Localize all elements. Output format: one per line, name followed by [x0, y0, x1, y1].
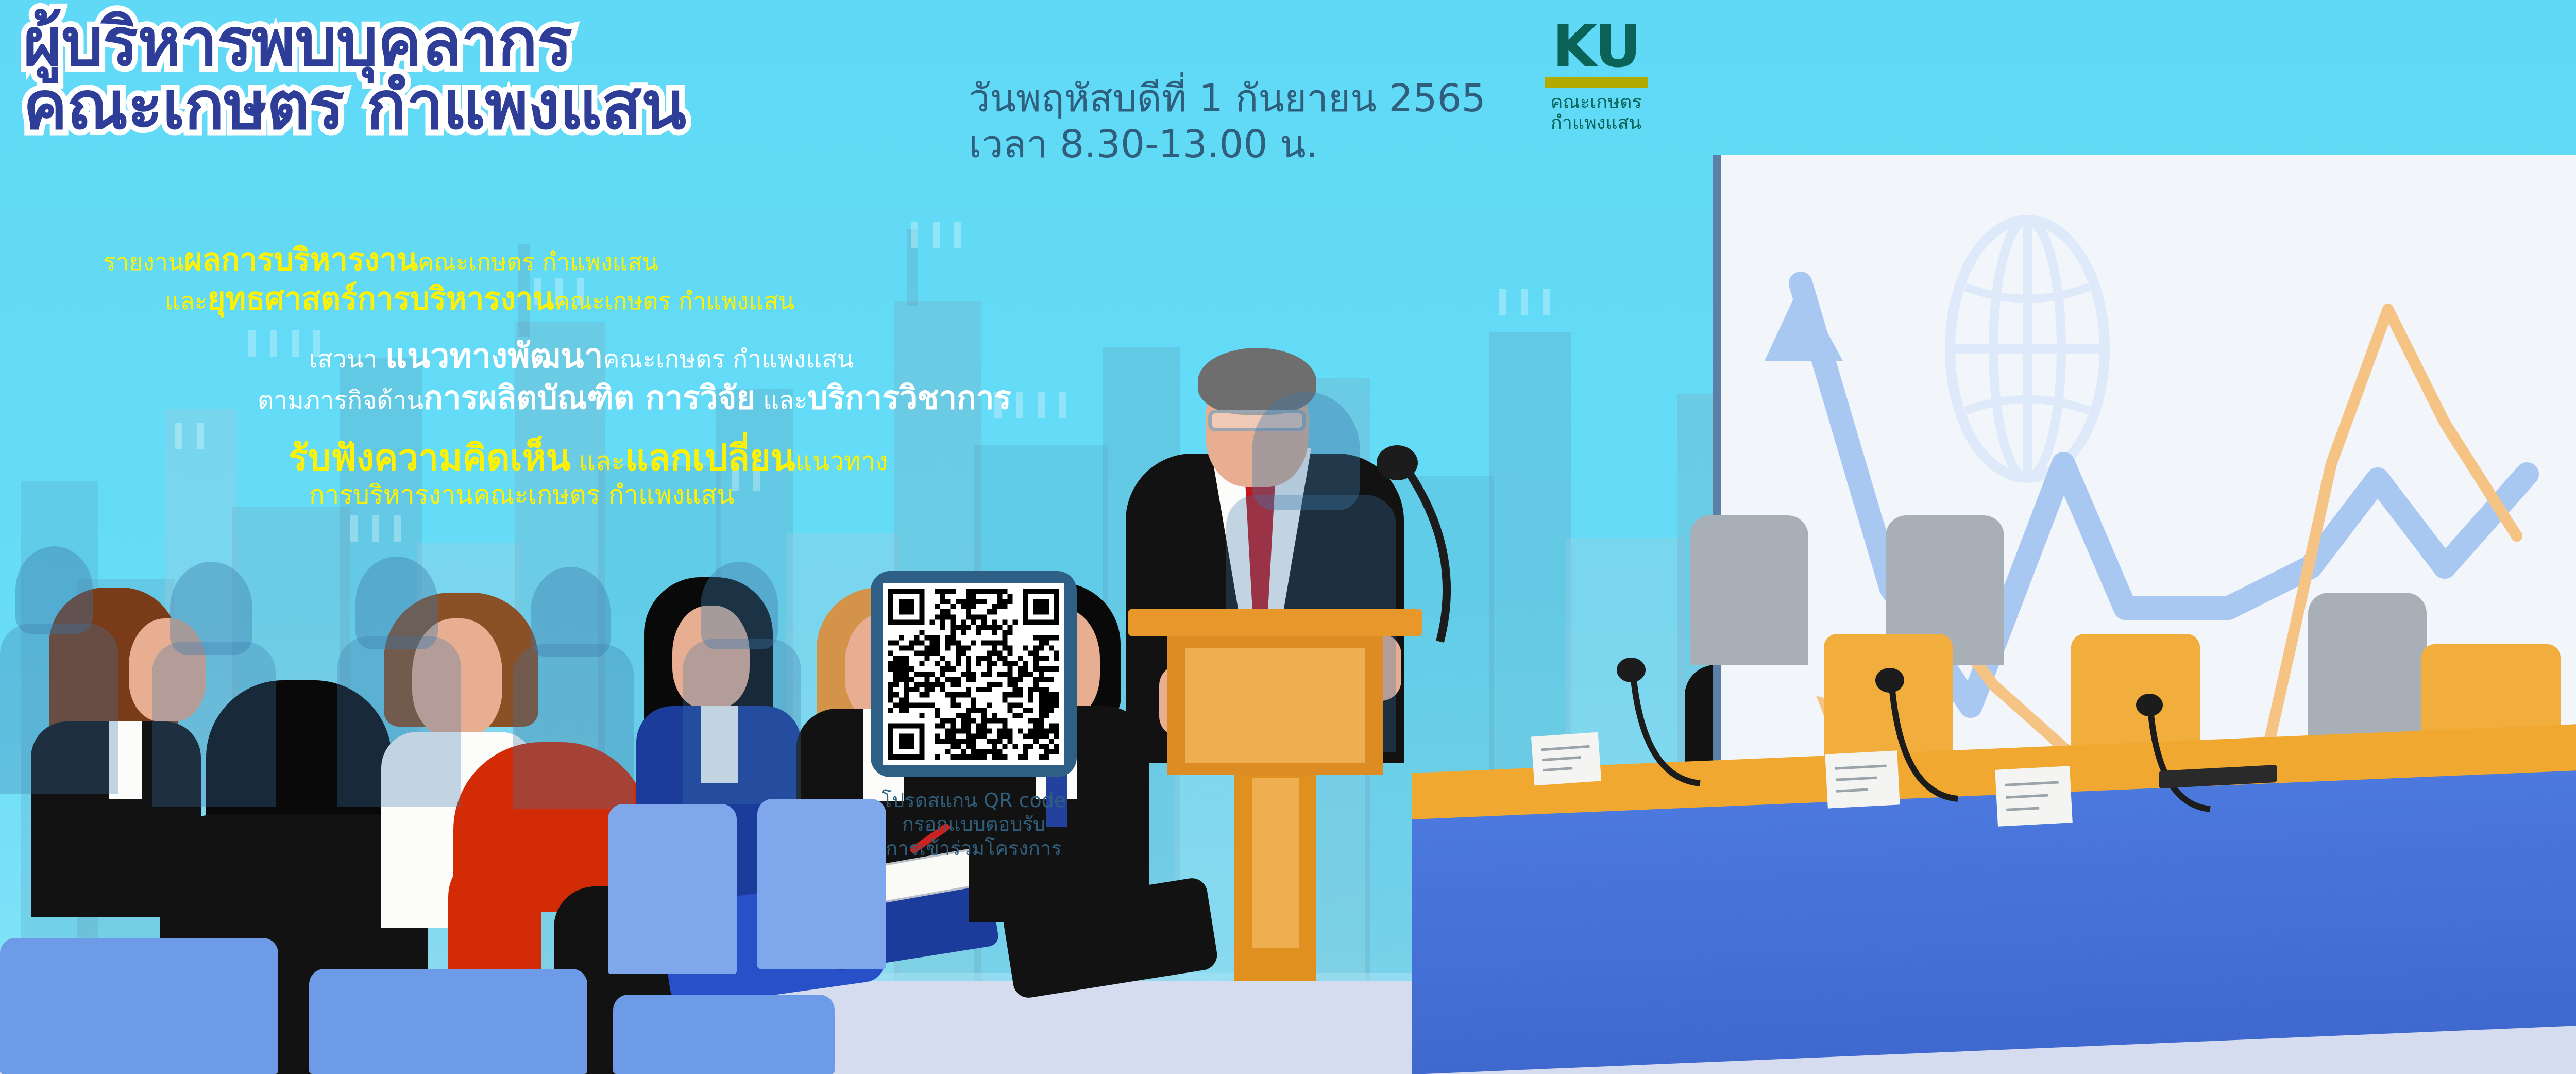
qr-code-image[interactable] — [888, 589, 1059, 760]
agenda-line-4: ตามภารกิจด้านการผลิตบัณฑิต การวิจัย และบ… — [0, 379, 1092, 416]
event-time: เวลา 8.30-13.00 น. — [969, 123, 1486, 166]
agenda-line-1-suffix: คณะเกษตร กำแพงแสน — [418, 248, 658, 276]
agenda-line-2: และยุทธศาสตร์การบริหารงานคณะเกษตร กำแพงแ… — [0, 281, 1092, 317]
audience-chair — [608, 804, 737, 974]
event-datetime: วันพฤหัสบดีที่ 1 กันยายน 2565 เวลา 8.30-… — [969, 77, 1486, 166]
agenda-line-4-prefix: ตามภารกิจด้าน — [258, 386, 423, 415]
ku-faculty-line-1: คณะเกษตร — [1529, 92, 1663, 113]
podium-microphone — [1329, 407, 1494, 649]
audience-chair — [309, 969, 587, 1074]
agenda-line-5-suffix: แนวทาง — [795, 446, 888, 476]
qr-frame — [871, 571, 1077, 777]
name-card — [1531, 732, 1601, 786]
agenda-line-1-prefix: รายงาน — [103, 248, 184, 276]
audience-chair — [0, 938, 278, 1074]
agenda-line-1: รายงานผลการบริหารงานคณะเกษตร กำแพงแสน — [0, 242, 1092, 278]
agenda-line-5: รับฟังความคิดเห็น และแลกเปลี่ยนแนวทาง — [0, 437, 1092, 479]
agenda-line-2-suffix: คณะเกษตร กำแพงแสน — [554, 287, 795, 315]
agenda-line-5-bold-2: แลกเปลี่ยน — [625, 437, 795, 479]
agenda-line-3: เสวนา แนวทางพัฒนาคณะเกษตร กำแพงแสน — [0, 337, 1092, 376]
agenda-line-4-bold-2: บริการวิชาการ — [807, 379, 1011, 416]
event-banner: ผู้บริหารพบบุคลากร คณะเกษตร กำแพงแสน วัน… — [0, 0, 2576, 1074]
qr-caption-line-3: การเข้าร่วมโครงการ — [871, 836, 1077, 860]
chair-shadow — [2308, 593, 2427, 747]
agenda-line-2-bold: ยุทธศาสตร์การบริหารงาน — [208, 281, 554, 317]
headline-line-2: คณะเกษตร กำแพงแสน — [23, 73, 686, 140]
agenda-line-6: การบริหารงานคณะเกษตร กำแพงแสน — [0, 480, 1092, 510]
headline-block: ผู้บริหารพบบุคลากร คณะเกษตร กำแพงแสน — [23, 9, 686, 140]
qr-block: โปรดสแกน QR code กรอกแบบตอบรับ การเข้าร่… — [871, 571, 1077, 860]
headline-line-1: ผู้บริหารพบบุคลากร — [23, 9, 686, 77]
event-date: วันพฤหัสบดีที่ 1 กันยายน 2565 — [969, 77, 1486, 120]
chair-shadow — [1690, 515, 1808, 665]
agenda-line-5-mid: และ — [571, 446, 625, 476]
qr-caption: โปรดสแกน QR code กรอกแบบตอบรับ การเข้าร่… — [871, 788, 1077, 860]
qr-inner — [883, 583, 1064, 765]
ku-logo: KU คณะเกษตร กำแพงแสน — [1529, 21, 1663, 134]
ku-mark: KU — [1529, 21, 1663, 74]
name-card — [1995, 766, 2073, 826]
agenda-line-2-prefix: และ — [165, 287, 208, 315]
agenda-line-3-bold: แนวทางพัฒนา — [385, 336, 603, 376]
agenda-block: รายงานผลการบริหารงานคณะเกษตร กำแพงแสน แล… — [0, 242, 1092, 510]
audience-chair — [757, 799, 886, 969]
audience-chair — [613, 995, 835, 1074]
ku-faculty-line-2: กำแพงแสน — [1529, 113, 1663, 133]
agenda-line-3-prefix: เสวนา — [309, 345, 385, 374]
agenda-line-3-suffix: คณะเกษตร กำแพงแสน — [603, 345, 854, 374]
agenda-line-1-bold: ผลการบริหารงาน — [184, 242, 418, 278]
panel-table-front — [1412, 768, 2576, 1074]
agenda-line-4-mid: และ — [755, 386, 807, 415]
agenda-line-4-bold-1: การผลิตบัณฑิต การวิจัย — [423, 379, 755, 416]
agenda-line-5-bold-1: รับฟังความคิดเห็น — [289, 437, 571, 479]
qr-caption-line-2: กรอกแบบตอบรับ — [871, 812, 1077, 836]
qr-caption-line-1: โปรดสแกน QR code — [871, 788, 1077, 812]
